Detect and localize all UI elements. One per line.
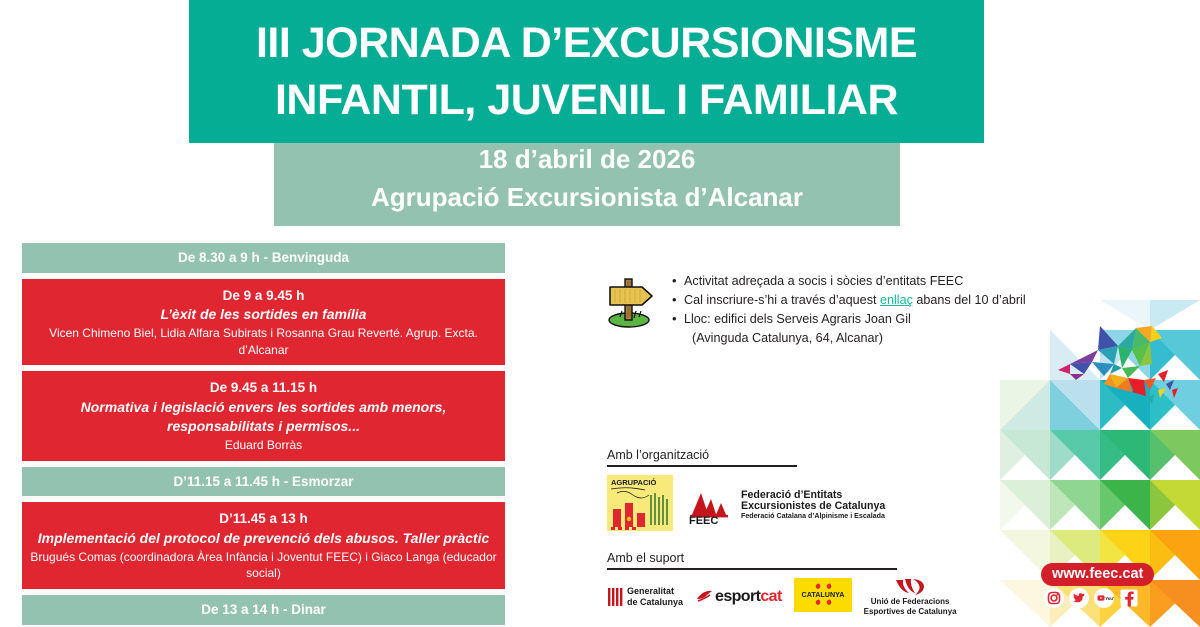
catalunya-logo: CATALUNYA xyxy=(794,578,852,617)
info-bullet-venue: Lloc: edifici dels Serveis Agraris Joan … xyxy=(670,310,1026,329)
slot-time: De 13 a 14 h - Dinar xyxy=(28,600,499,620)
slot-speakers: Eduard Borràs xyxy=(30,437,497,454)
esportcat-text-2: cat xyxy=(760,588,781,605)
feec-logo-line-2: Excursionistes de Catalunya xyxy=(741,501,885,512)
svg-text:CATALUNYA: CATALUNYA xyxy=(801,590,844,599)
event-organizer: Agrupació Excursionista d’Alcanar xyxy=(371,179,803,217)
agrupacio-excursionista-alcanar-logo: AGRUPACIÓ xyxy=(607,475,673,536)
schedule-slot-talk-2: De 9.45 a 11.15 h Normativa i legislació… xyxy=(22,371,505,461)
support-divider xyxy=(607,568,897,570)
generalitat-line-2: de Catalunya xyxy=(627,597,683,608)
organization-logo-row: AGRUPACIÓ xyxy=(607,475,885,536)
poster-title-line-2: INFANTIL, JUVENIL I FAMILIAR xyxy=(275,72,898,129)
schedule-slot-workshop: D’11.45 a 13 h Implementació del protoco… xyxy=(22,502,505,589)
website-badge[interactable]: www.feec.cat xyxy=(1041,563,1154,586)
slot-time: De 9.45 a 11.15 h xyxy=(30,378,497,398)
slot-title-line-1: Normativa i legislació envers les sortid… xyxy=(30,398,497,418)
support-heading: Amb el suport xyxy=(607,551,957,568)
slot-speakers: Vicen Chimeno Biel, Lidia Alfara Subirat… xyxy=(30,325,497,359)
youtube-icon[interactable]: YouTube xyxy=(1094,588,1114,608)
slot-title: L’èxit de les sortides en família xyxy=(30,305,497,325)
slot-title: Implementació del protocol de prevenció … xyxy=(30,529,497,549)
support-section: Amb el suport Generalitat de Catalunya xyxy=(607,551,957,617)
unio-federacions-esportives-logo: Unió de Federacions Esportives de Catalu… xyxy=(864,578,957,616)
event-date: 18 d’abril de 2026 xyxy=(479,141,696,179)
feec-logo: FEEC Federació d’Entitats Excursionistes… xyxy=(687,485,885,525)
svg-text:FEEC: FEEC xyxy=(689,515,718,525)
organization-section: Amb l’organització AGRUPACIÓ xyxy=(607,448,885,536)
generalitat-line-1: Generalitat xyxy=(627,586,683,597)
slot-time: D’11.15 a 11.45 h - Esmorzar xyxy=(28,472,499,492)
poster-title-line-1: III JORNADA D’EXCURSIONISME xyxy=(256,15,917,72)
generalitat-de-catalunya-logo: Generalitat de Catalunya xyxy=(607,586,683,607)
registration-link[interactable]: enllaç xyxy=(880,293,913,307)
poster-canvas: III JORNADA D’EXCURSIONISME INFANTIL, JU… xyxy=(0,0,1200,627)
schedule-slot-welcome: De 8.30 a 9 h - Benvinguda xyxy=(22,243,505,273)
organization-heading: Amb l’organització xyxy=(607,448,885,465)
support-logo-row: Generalitat de Catalunya esportcat CATAL… xyxy=(607,578,957,617)
slot-speakers: Brugués Comas (coordinadora Àrea Infànci… xyxy=(30,549,497,583)
feec-logo-line-3: Federació Catalana d’Alpinisme i Escalad… xyxy=(741,513,885,521)
schedule-slot-talk-1: De 9 a 9.45 h L’èxit de les sortides en … xyxy=(22,279,505,366)
svg-text:YouTube: YouTube xyxy=(1105,596,1114,601)
schedule-slot-breakfast: D’11.15 a 11.45 h - Esmorzar xyxy=(22,467,505,497)
slot-title-line-2: responsabilitats i permisos... xyxy=(30,417,497,437)
facebook-icon[interactable] xyxy=(1119,588,1139,608)
info-bullet-registration: Cal inscriure-s’hi a través d’aquest enl… xyxy=(670,291,1026,310)
slot-time: De 8.30 a 9 h - Benvinguda xyxy=(28,248,499,268)
info-bullet-audience: Activitat adreçada a socis i sòcies d’en… xyxy=(670,272,1026,291)
poster-title-banner: III JORNADA D’EXCURSIONISME INFANTIL, JU… xyxy=(189,0,984,143)
twitter-icon[interactable] xyxy=(1069,588,1089,608)
info-bullet-list: Activitat adreçada a socis i sòcies d’en… xyxy=(670,268,1026,349)
esportcat-text-1: esport xyxy=(715,588,760,605)
unio-line-1: Unió de Federacions xyxy=(864,597,957,607)
schedule-list: De 8.30 a 9 h - Benvinguda De 9 a 9.45 h… xyxy=(22,243,505,627)
svg-text:AGRUPACIÓ: AGRUPACIÓ xyxy=(611,478,656,487)
social-links: YouTube xyxy=(1044,588,1139,608)
signpost-icon xyxy=(598,268,660,330)
event-info-block: Activitat adreçada a socis i sòcies d’en… xyxy=(598,268,1038,349)
instagram-icon[interactable] xyxy=(1044,588,1064,608)
schedule-slot-lunch: De 13 a 14 h - Dinar xyxy=(22,595,505,625)
slot-time: De 9 a 9.45 h xyxy=(30,286,497,306)
esportcat-logo: esportcat xyxy=(695,588,782,606)
organization-divider xyxy=(607,465,797,467)
unio-line-2: Esportives de Catalunya xyxy=(864,607,957,617)
slot-time: D’11.45 a 13 h xyxy=(30,509,497,529)
poster-subtitle-banner: 18 d’abril de 2026 Agrupació Excursionis… xyxy=(274,131,900,226)
info-bullet-venue-address: (Avinguda Catalunya, 64, Alcanar) xyxy=(670,329,1026,348)
polygonal-bird-icon xyxy=(1040,318,1180,418)
